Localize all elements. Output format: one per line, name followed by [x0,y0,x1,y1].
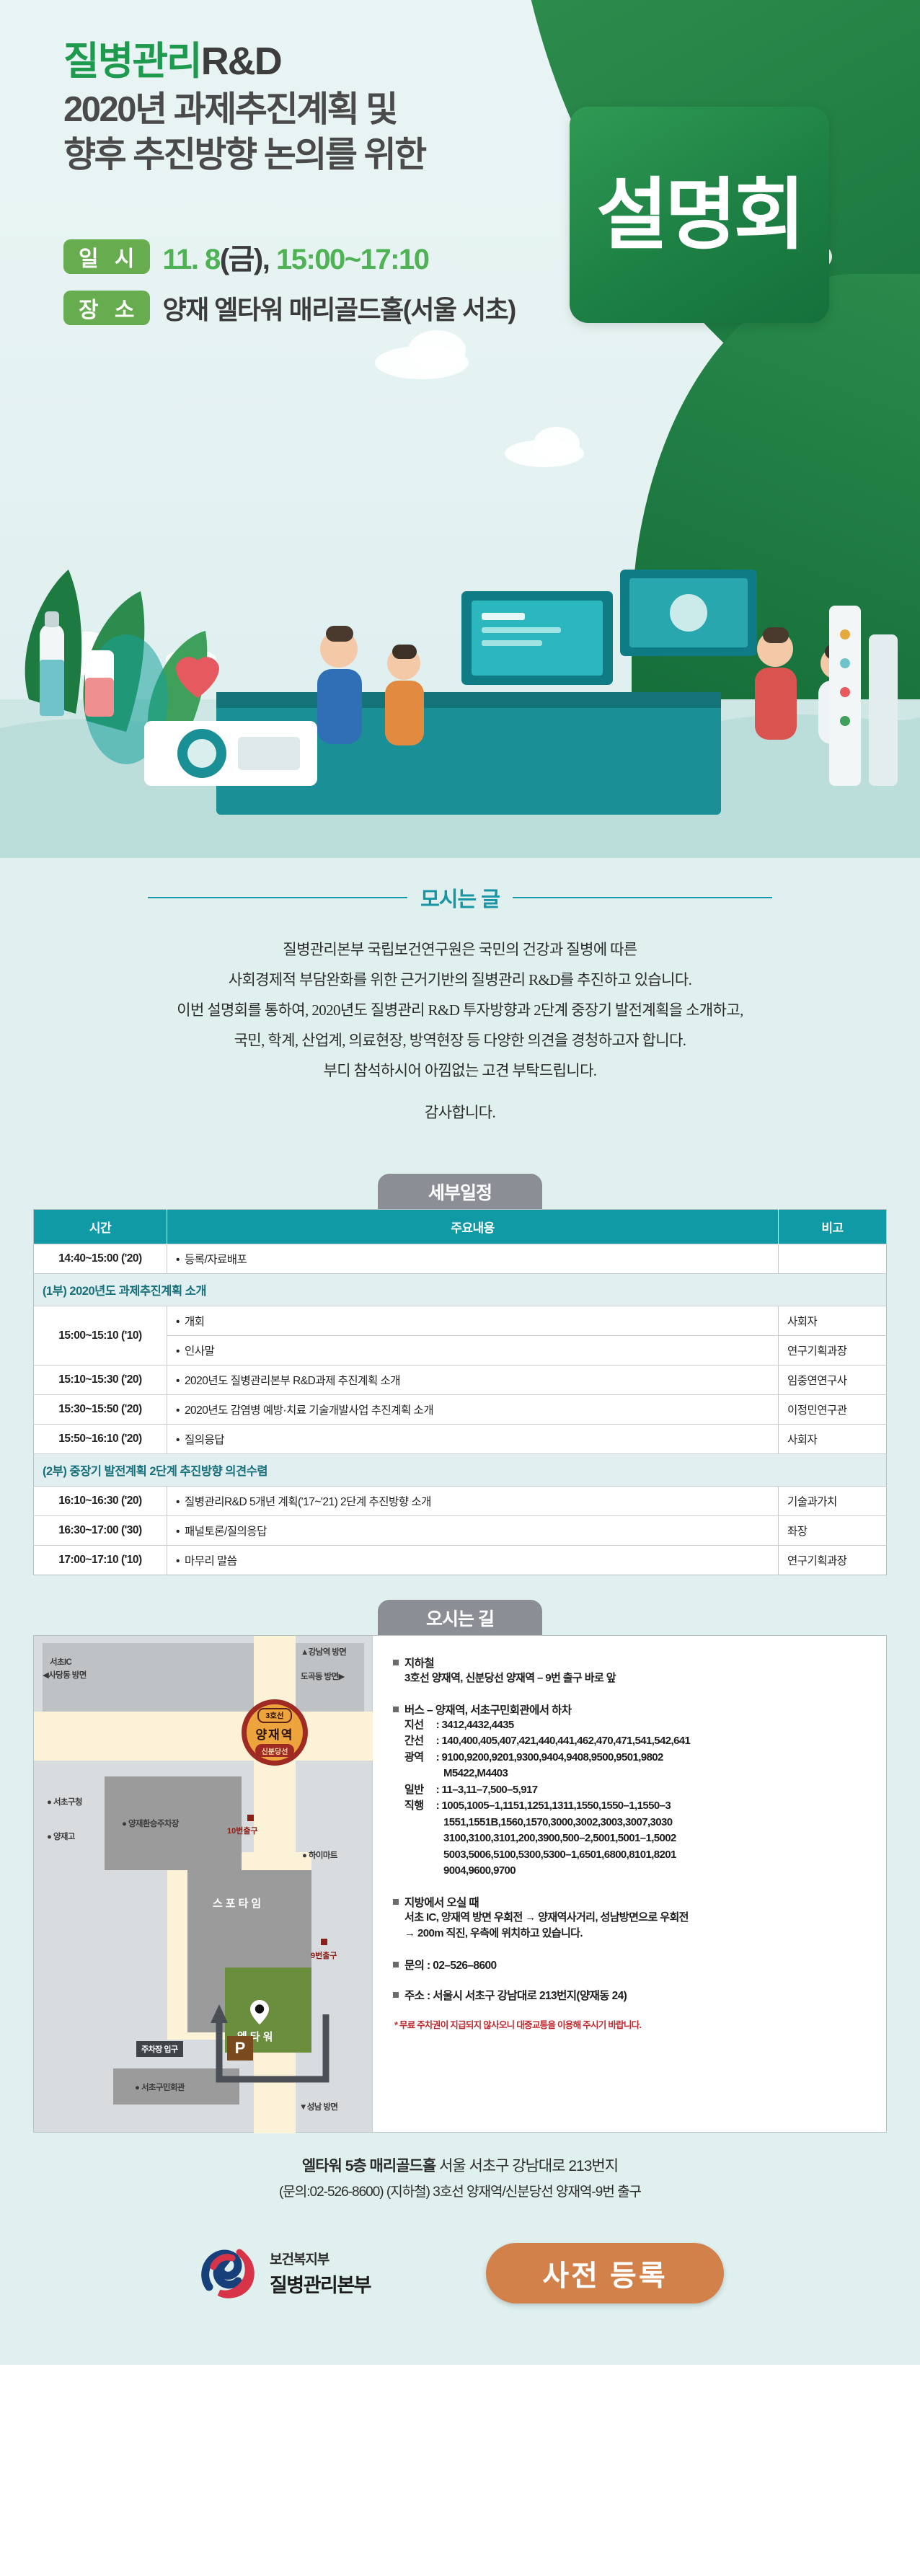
parking-entrance-label: 주차장 입구 [136,2041,183,2057]
table-row: 15:00~15:10 ('10) 개회 사회자 [34,1306,887,1336]
map-label-dogok: 도곡동 방면▶ [301,1670,345,1682]
footer-address-line2: (문의:02-526-8600) (지하철) 3호선 양재역/신분당선 양재역-… [0,2181,920,2200]
greeting-line-5: 부디 참석하시어 아낌없는 고견 부탁드립니다. [62,1055,858,1086]
cell-content-text: 질의응답 [176,1434,224,1446]
map-label-seongnam: ▼성남 방면 [299,2101,337,2112]
schedule-table-head: 시간 주요내용 비고 [34,1210,887,1244]
info-address: 주소 : 서울시 서초구 강남대로 213번지(양재동 24) [393,1987,873,2003]
bus-type: 광역 [404,1750,433,1766]
table-row: 17:00~17:10 ('10) 마무리 말씀 연구기획과장 [34,1546,887,1575]
greeting-closing: 감사합니다. [62,1097,858,1128]
map-label-seocho-ic: 서초IC [50,1656,71,1668]
info-address-text: 주소 : 서울시 서초구 강남대로 213번지(양재동 24) [404,1987,627,2003]
exit-9-marker-icon [321,1939,327,1945]
bus-line-cont: 9004,9600,9700 [404,1863,873,1880]
info-contact-head: 문의 : 02–526–8600 [393,1957,873,1973]
poster-main-title: 2020년 과제추진계획 및 향후 추진방향 논의를 위한 [63,87,568,177]
station-name: 양재역 [256,1725,294,1743]
info-contact-text: 문의 : 02–526–8600 [404,1957,497,1973]
cell-time: 15:50~16:10 ('20) [34,1425,167,1454]
bus-line: 직행 : 1005,1005–1,1151,1251,1311,1550,155… [404,1798,873,1815]
bus-line-cont: 5003,5006,5100,5300,5300–1,6501,6800,810… [404,1847,873,1864]
rule-right [513,897,772,898]
map-label-yangjae-parking: ● 양재환승주차장 [122,1818,179,1829]
bullet-square-icon [393,1992,399,1998]
table-row: 16:10~16:30 ('20) 질병관리R&D 5개년 계획('17~'21… [34,1487,887,1516]
column-header-time: 시간 [34,1210,167,1244]
venue-tag-label: 장 소 [63,291,150,325]
part-label: (2부) 중장기 발전계획 2단계 추진방향 의견수렴 [34,1454,887,1487]
table-row: 15:50~16:10 ('20) 질의응답 사회자 [34,1425,887,1454]
info-subway: 지하철 3호선 양재역, 신분당선 양재역 – 9번 출구 바로 앞 [393,1655,873,1687]
cell-time: 16:30~17:00 ('30) [34,1516,167,1546]
station-line-badge: 3호선 [257,1708,291,1723]
bus-line: 간선 : 140,400,405,407,421,440,441,462,470… [404,1733,873,1750]
greeting-body: 질병관리본부 국립보건연구원은 국민의 건강과 질병에 따른 사회경제적 부담완… [62,934,858,1128]
hero-illustration [0,483,920,858]
map-label-gangnam: ▲강남역 방면 [301,1646,346,1657]
cell-content-text: 인사말 [176,1345,214,1358]
poster-root: 질병관리R&D 2020년 과제추진계획 및 향후 추진방향 논의를 위한 일 … [0,0,920,2576]
cell-note: 연구기획과장 [779,1546,887,1575]
cell-time: 15:30~15:50 ('20) [34,1395,167,1425]
seminar-badge: 설명회 [570,107,829,323]
map-and-info-box: 서초IC ◀사당동 방면 ▲강남역 방면 도곡동 방면▶ ▼성남 방면 ● 서초… [33,1635,887,2133]
schedule-section: 세부일정 시간 주요내용 비고 14:40~15:00 ('20) 등록/자료배… [33,1174,887,1575]
info-bus: 버스 – 양재역, 서초구민회관에서 하차 지선 : 3412,4432,443… [393,1701,873,1880]
venue-value: 양재 엘타워 매리골드홀(서울 서초) [163,289,516,327]
schedule-table-body: 14:40~15:00 ('20) 등록/자료배포 (1부) 2020년도 과제… [34,1244,887,1575]
cell-content-text: 질병관리R&D 5개년 계획('17~'21) 2단계 추진방향 소개 [176,1496,431,1508]
map-label-himart: ● 하이마트 [302,1849,337,1861]
cell-content: 2020년도 감염병 예방·치료 기술개발사업 추진계획 소개 [167,1395,779,1425]
map-label-sadang: ◀사당동 방면 [43,1669,87,1681]
directions-info-panel: 지하철 3호선 양재역, 신분당선 양재역 – 9번 출구 바로 앞 버스 – … [373,1636,886,2132]
greeting-line-2: 사회경제적 부담완화를 위한 근거기반의 질병관리 R&D를 추진하고 있습니다… [62,965,858,995]
cell-time: 15:10~15:30 ('20) [34,1366,167,1395]
cell-note: 임중연연구사 [779,1366,887,1395]
table-row: 15:30~15:50 ('20) 2020년도 감염병 예방·치료 기술개발사… [34,1395,887,1425]
cell-content: 2020년도 질병관리본부 R&D과제 추진계획 소개 [167,1366,779,1395]
column-header-content: 주요내용 [167,1210,779,1244]
bus-numbers: 1005,1005–1,1151,1251,1311,1550,1550–1,1… [442,1800,671,1812]
cell-content: 질병관리R&D 5개년 계획('17~'21) 2단계 추진방향 소개 [167,1487,779,1516]
bus-numbers: 140,400,405,407,421,440,441,462,470,471,… [442,1735,691,1747]
bus-type: 간선 [404,1733,433,1750]
cell-note: 이정민연구관 [779,1395,887,1425]
info-province-head: 지방에서 오실 때 [393,1894,873,1910]
info-subway-line: 3호선 양재역, 신분당선 양재역 – 9번 출구 바로 앞 [404,1670,873,1687]
cell-content-text: 2020년도 질병관리본부 R&D과제 추진계획 소개 [176,1375,400,1387]
greeting-line-1: 질병관리본부 국립보건연구원은 국민의 건강과 질병에 따른 [62,934,858,965]
bullet-square-icon [393,1660,399,1665]
directions-section: 오시는 길 [33,1600,887,2133]
table-part-row: (2부) 중장기 발전계획 2단계 추진방향 의견수렴 [34,1454,887,1487]
directions-tab-header: 오시는 길 [378,1600,542,1635]
poster-body: 모시는 글 질병관리본부 국립보건연구원은 국민의 건강과 질병에 따른 사회경… [0,858,920,2365]
map-graphic: 서초IC ◀사당동 방면 ▲강남역 방면 도곡동 방면▶ ▼성남 방면 ● 서초… [34,1636,373,2132]
bus-numbers: 3412,4432,4435 [442,1719,514,1731]
cell-content: 패널토론/질의응답 [167,1516,779,1546]
cell-note [779,1244,887,1274]
bus-numbers: 9100,9200,9201,9300,9404,9408,9500,9501,… [442,1751,663,1763]
cell-note: 기술과가치 [779,1487,887,1516]
cell-time: 17:00~17:10 ('10) [34,1546,167,1575]
cell-content: 개회 [167,1306,779,1336]
map-label-community-center: ● 서초구민회관 [135,2081,185,2093]
info-subway-title: 지하철 [404,1655,434,1670]
bullet-square-icon [393,1899,399,1905]
greeting-line-4: 국민, 학계, 산업계, 의료현장, 방역현장 등 다양한 의견을 경청하고자 … [62,1025,858,1055]
route-arrow-icon [182,2000,333,2086]
greeting-heading-row: 모시는 글 [62,882,858,913]
cloud-decoration [534,427,580,460]
exit-10-label: 10번출구 [227,1825,258,1836]
exit-10-marker-icon [247,1815,254,1821]
info-from-province: 지방에서 오실 때 서초 IC, 양재역 방면 우회전 → 양재역사거리, 성남… [393,1894,873,1942]
bus-type: 직행 [404,1798,433,1815]
bus-type: 일반 [404,1782,433,1799]
poster-kicker-title: 질병관리R&D [63,40,920,83]
cell-content-text: 개회 [176,1316,204,1328]
info-province-line-1: 서초 IC, 양재역 방면 우회전 → 양재역사거리, 성남방면으로 우회전 [404,1910,873,1926]
weekday-part: (금), [220,244,270,275]
map-label-seocho-gu-office: ● 서초구청 [47,1796,82,1807]
date-part: 11. 8 [163,244,220,275]
footer-venue-strong: 엘타워 5층 매리골드홀 [302,2158,435,2174]
bullet-square-icon [393,1707,399,1712]
greeting-heading: 모시는 글 [420,882,500,913]
schedule-tab-header: 세부일정 [378,1174,542,1209]
table-row: 16:30~17:00 ('30) 패널토론/질의응답 좌장 [34,1516,887,1546]
bus-line-cont: M5422,M4403 [404,1766,873,1782]
bus-line: 광역 : 9100,9200,9201,9300,9404,9408,9500,… [404,1750,873,1766]
exit-9-label: 9번출구 [311,1949,337,1961]
cell-content-text: 등록/자료배포 [176,1254,247,1266]
schedule-header-row: 시간 주요내용 비고 [34,1210,887,1244]
table-row: 14:40~15:00 ('20) 등록/자료배포 [34,1244,887,1274]
cell-content: 질의응답 [167,1425,779,1454]
info-bus-head: 버스 – 양재역, 서초구민회관에서 하차 [393,1701,873,1717]
bus-numbers: 11–3,11–7,500–5,917 [442,1784,538,1796]
table-part-row: (1부) 2020년도 과제추진계획 소개 [34,1274,887,1306]
cell-note: 사회자 [779,1425,887,1454]
footer-address-block: 엘타워 5층 매리골드홀 서울 서초구 강남대로 213번지 (문의:02-52… [0,2154,920,2200]
cell-note: 좌장 [779,1516,887,1546]
cell-time: 16:10~16:30 ('20) [34,1487,167,1516]
info-address-head: 주소 : 서울시 서초구 강남대로 213번지(양재동 24) [393,1987,873,2003]
cell-note: 연구기획과장 [779,1336,887,1366]
time-part: 15:00~17:10 [276,244,428,275]
column-header-note: 비고 [779,1210,887,1244]
cloud-decoration [408,330,466,371]
cell-time: 15:00~15:10 ('10) [34,1306,167,1366]
cell-content: 인사말 [167,1336,779,1366]
pre-registration-button[interactable]: 사전 등록 [486,2243,724,2303]
government-taegeuk-icon [196,2242,258,2304]
bullet-square-icon [393,1962,399,1968]
greeting-section: 모시는 글 질병관리본부 국립보건연구원은 국민의 건강과 질병에 따른 사회경… [33,858,887,1149]
seminar-badge-label: 설명회 [596,176,802,254]
table-row: 15:10~15:30 ('20) 2020년도 질병관리본부 R&D과제 추진… [34,1366,887,1395]
bus-line-cont: 3100,3100,3101,200,3900,500–2,5001,5001–… [404,1831,873,1847]
subway-station-marker: 3호선 양재역 신분당선 [242,1699,308,1766]
part-label: (1부) 2020년도 과제추진계획 소개 [34,1274,887,1306]
schedule-table: 시간 주요내용 비고 14:40~15:00 ('20) 등록/자료배포 (1부… [33,1209,887,1575]
footer-address-line1: 엘타워 5층 매리골드홀 서울 서초구 강남대로 213번지 [0,2154,920,2176]
hero-section: 질병관리R&D 2020년 과제추진계획 및 향후 추진방향 논의를 위한 일 … [0,0,920,858]
cell-content-text: 마무리 말씀 [176,1555,237,1567]
title-line-1: 2020년 과제추진계획 및 [63,87,568,133]
organization-text: 보건복지부 질병관리본부 [270,2249,371,2298]
footer-row: 보건복지부 질병관리본부 사전 등록 [0,2242,920,2337]
greeting-spacer [62,1086,858,1097]
cell-content-text: 2020년도 감염병 예방·치료 기술개발사업 추진계획 소개 [176,1404,433,1417]
bus-type: 지선 [404,1717,433,1734]
cell-content: 등록/자료배포 [167,1244,779,1274]
bus-line: 일반 : 11–3,11–7,500–5,917 [404,1782,873,1799]
map-label-sportime: 스포타임 [213,1895,264,1911]
info-bus-title: 버스 – 양재역, 서초구민회관에서 하차 [404,1701,571,1717]
parking-warning-note: * 무료 주차권이 지급되지 않사오니 대중교통을 이용해 주시기 바랍니다. [394,2017,873,2031]
datetime-tag-label: 일 시 [63,239,150,274]
road-horizontal [34,1712,373,1761]
info-subway-head: 지하철 [393,1655,873,1670]
title-line-2: 향후 추진방향 논의를 위한 [63,133,568,178]
bus-line: 지선 : 3412,4432,4435 [404,1717,873,1734]
cell-content-text: 패널토론/질의응답 [176,1526,267,1538]
bus-line-cont: 1551,1551B,1560,1570,3000,3002,3003,3007… [404,1815,873,1831]
info-province-line-2: → 200m 직진, 우측에 위치하고 있습니다. [404,1926,873,1942]
map-label-yangjae-high: ● 양재고 [47,1831,75,1842]
info-contact: 문의 : 02–526–8600 [393,1957,873,1973]
kicker-green-text: 질병관리 [63,40,201,83]
info-province-title: 지방에서 오실 때 [404,1894,479,1910]
footer-venue-rest: 서울 서초구 강남대로 213번지 [435,2158,618,2174]
agency-name: 질병관리본부 [270,2270,371,2298]
rule-left [148,897,407,898]
cell-content: 마무리 말씀 [167,1546,779,1575]
cell-time: 14:40~15:00 ('20) [34,1244,167,1274]
datetime-value: 11. 8(금), 15:00~17:10 [163,236,429,278]
greeting-line-3: 이번 설명회를 통하여, 2020년도 질병관리 R&D 투자방향과 2단계 중… [62,995,858,1025]
cell-note: 사회자 [779,1306,887,1336]
station-subline-badge: 신분당선 [255,1744,295,1757]
ministry-name: 보건복지부 [270,2249,371,2268]
organization-logo: 보건복지부 질병관리본부 [196,2242,371,2304]
kicker-dark-text: R&D [201,40,281,83]
